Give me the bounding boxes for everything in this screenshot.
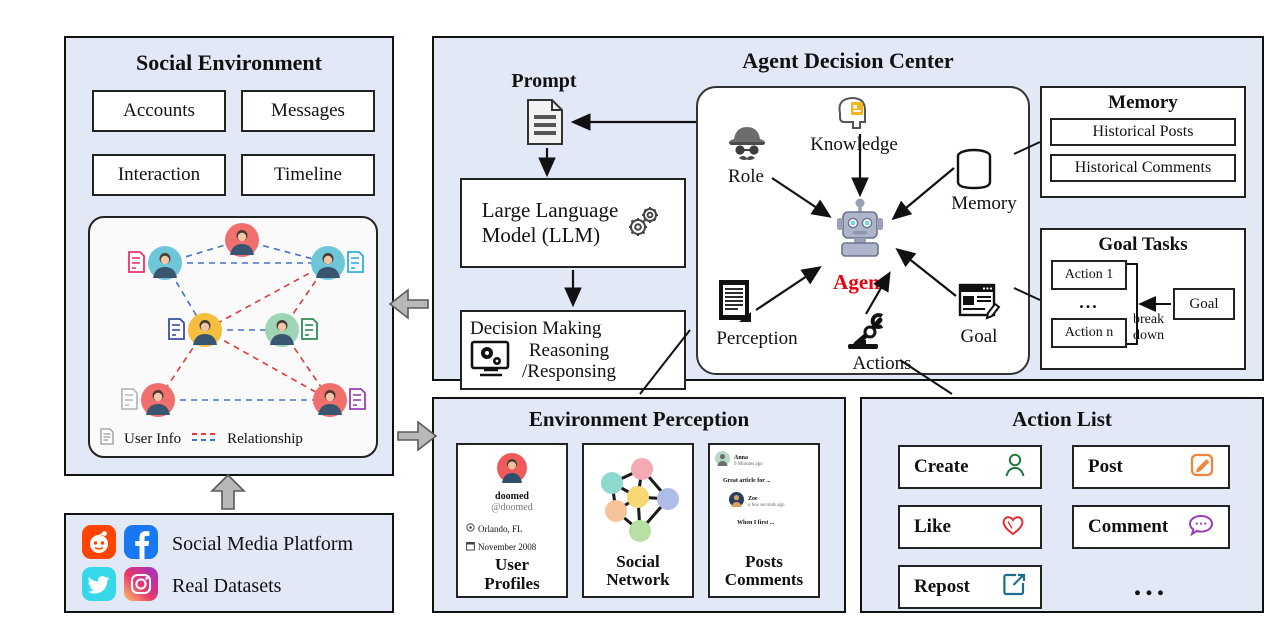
module-label: Accounts (123, 100, 195, 122)
memory-item-historical-posts[interactable]: Historical Posts (1050, 118, 1236, 146)
goal-task-label: Action 1 (1065, 267, 1114, 283)
user-node[interactable] (188, 313, 222, 347)
feed-time: 9 Minutes ago (734, 462, 763, 467)
page-title: Action List (862, 407, 1262, 432)
knowledge-label: Knowledge (789, 134, 919, 156)
action-label: Repost (914, 576, 970, 598)
graph-legend: User Info Relationship (100, 428, 303, 450)
action-repost-button[interactable]: Repost (898, 565, 1042, 609)
goal-task-action-n[interactable]: Action n (1051, 318, 1127, 348)
card-caption-line2: Profiles (484, 575, 539, 594)
page-title: Environment Perception (434, 407, 844, 432)
platform-to-env-arrow (212, 475, 244, 509)
goal-document-icon (958, 283, 998, 328)
goal-task-ellipsis: ... (1051, 292, 1127, 313)
legend-user-info-label: User Info (124, 431, 181, 448)
agent-decision-center-panel: Agent Decision Center Prompt Large Langu… (432, 36, 1264, 381)
module-label: Timeline (274, 164, 342, 186)
decision-making-title: Decision Making (470, 318, 601, 340)
decision-making-box[interactable]: Decision Making Reasoning /Responsing (460, 310, 686, 390)
memory-panel: Memory Historical Posts Historical Comme… (1040, 86, 1246, 198)
goal-tasks-panel: Goal Tasks Action 1 ... Action n Goal br… (1040, 228, 1246, 370)
user-node[interactable] (148, 246, 182, 280)
social-graph-edges (90, 218, 376, 456)
goal-tasks-title: Goal Tasks (1098, 234, 1187, 256)
user-info-icon (302, 319, 317, 339)
relationship-edge (205, 330, 330, 400)
relationship-edge (282, 330, 330, 400)
social-environment-panel: Social Environment Accounts Messages Int… (64, 36, 394, 476)
database-memory-icon (954, 148, 994, 195)
platform-label: Real Datasets (172, 575, 281, 598)
platform-row-1: Social Media Platform (82, 525, 353, 564)
relationship-edge (158, 330, 205, 400)
feed-text: When I first ... (737, 520, 813, 526)
memory-item-label: Historical Posts (1093, 123, 1194, 141)
agent-to-perception-arrow (398, 422, 436, 450)
module-interaction[interactable]: Interaction (92, 154, 226, 196)
card-posts-comments[interactable]: Anna 9 Minutes ago Great article for ...… (708, 443, 820, 598)
page-title: Social Environment (66, 50, 392, 76)
brain-knowledge-icon (834, 93, 870, 136)
legend-relationship-label: Relationship (227, 431, 303, 448)
llm-box[interactable]: Large Language Model (LLM) (460, 178, 686, 268)
map-pin-icon (466, 520, 475, 538)
card-user-profiles[interactable]: doomed @doomed Orlando, FL November 2008… (456, 443, 568, 598)
breakdown-label-line2: down (1133, 328, 1187, 344)
user-info-icon (350, 389, 365, 409)
create-user-icon (1004, 453, 1026, 482)
social-graph-card: User Info Relationship (88, 216, 378, 458)
relationship-edge (242, 240, 328, 263)
card-social-network[interactable]: Social Network (582, 443, 694, 598)
facebook-icon (124, 525, 158, 564)
platform-panel: Social Media Platform Real Datasets (64, 513, 394, 613)
actions-label: Actions (832, 353, 932, 375)
robot-arm-icon (846, 310, 898, 359)
memory-item-historical-comments[interactable]: Historical Comments (1050, 154, 1236, 182)
feed-time: a few seconds ago (748, 503, 785, 508)
llm-label-line1: Large Language (482, 198, 619, 223)
incognito-role-icon (724, 123, 770, 168)
relationship-edge (165, 240, 242, 263)
user-node[interactable] (311, 246, 345, 280)
agent-core-label: Agent (814, 270, 906, 295)
social-network-graphic (590, 453, 686, 551)
module-timeline[interactable]: Timeline (241, 154, 375, 196)
comment-bubble-icon (1188, 513, 1214, 542)
user-info-icon (348, 252, 363, 272)
user-node[interactable] (313, 383, 347, 417)
avatar (729, 492, 744, 512)
action-label: Create (914, 456, 969, 478)
card-caption-line2: Comments (725, 571, 803, 590)
profile-joined: November 2008 (478, 542, 536, 552)
relationship-edge (282, 263, 328, 330)
avatar (715, 451, 730, 471)
action-label: Like (914, 516, 951, 538)
agent-robot-icon (829, 198, 891, 273)
post-pencil-icon (1190, 453, 1214, 482)
platform-label: Social Media Platform (172, 533, 353, 556)
module-label: Messages (271, 100, 345, 122)
monitor-gears-icon (470, 340, 512, 383)
action-create-button[interactable]: Create (898, 445, 1042, 489)
user-info-icon (129, 252, 144, 272)
profile-handle: @doomed (491, 502, 532, 513)
gears-icon (624, 201, 664, 246)
goal-task-action-1[interactable]: Action 1 (1051, 260, 1127, 290)
feed-text: Great article for ... (723, 478, 813, 484)
repost-share-icon (1003, 573, 1026, 601)
decision-responding-label: /Responsing (522, 361, 616, 382)
action-comment-button[interactable]: Comment (1072, 505, 1230, 549)
profile-location: Orlando, FL (478, 524, 523, 534)
prompt-document-icon (526, 98, 564, 151)
module-messages[interactable]: Messages (241, 90, 375, 132)
memory-item-label: Historical Comments (1075, 159, 1211, 177)
card-caption-line2: Network (606, 571, 669, 590)
instagram-icon (124, 567, 158, 606)
module-accounts[interactable]: Accounts (92, 90, 226, 132)
action-list-panel: Action List Create Post Like Comm (860, 397, 1264, 613)
module-label: Interaction (118, 164, 200, 186)
llm-label-line2: Model (LLM) (482, 223, 619, 248)
env-to-agent-arrow (390, 290, 428, 318)
decision-reasoning-label: Reasoning (522, 340, 616, 361)
profile-name: doomed (495, 491, 529, 502)
card-caption-line1: Social (606, 553, 669, 572)
perception-document-icon (717, 278, 755, 329)
relationship-edge (205, 263, 328, 330)
user-info-icon (169, 319, 184, 339)
user-info-icon (100, 428, 114, 450)
memory-label: Memory (939, 193, 1029, 215)
avatar (497, 453, 527, 488)
memory-panel-title: Memory (1108, 92, 1178, 114)
user-node[interactable] (265, 313, 299, 347)
goal-task-label: Action n (1065, 325, 1114, 341)
relationship-edge (165, 263, 205, 330)
action-label: Post (1088, 456, 1123, 478)
perception-label: Perception (692, 328, 822, 350)
card-caption-line1: User (484, 556, 539, 575)
action-like-button[interactable]: Like (898, 505, 1042, 549)
like-heart-icon (1000, 513, 1026, 542)
action-post-button[interactable]: Post (1072, 445, 1230, 489)
reddit-icon (82, 525, 116, 564)
calendar-icon (466, 538, 475, 556)
environment-perception-panel: Environment Perception doomed @doomed Or… (432, 397, 846, 613)
card-caption-line1: Posts (725, 553, 803, 572)
platform-row-2: Real Datasets (82, 567, 281, 606)
breakdown-label-line1: break (1133, 312, 1187, 328)
goal-label: Goal (944, 326, 1014, 348)
user-info-icon (122, 389, 137, 409)
prompt-label: Prompt (474, 70, 614, 93)
user-node[interactable] (141, 383, 175, 417)
action-list-ellipsis: ... (1072, 569, 1230, 603)
twitter-icon (82, 567, 116, 606)
goal-source-label: Goal (1189, 296, 1218, 313)
user-node[interactable] (225, 223, 259, 257)
relationship-dashes-icon (191, 430, 217, 449)
action-label: Comment (1088, 516, 1168, 538)
role-label: Role (706, 166, 786, 188)
